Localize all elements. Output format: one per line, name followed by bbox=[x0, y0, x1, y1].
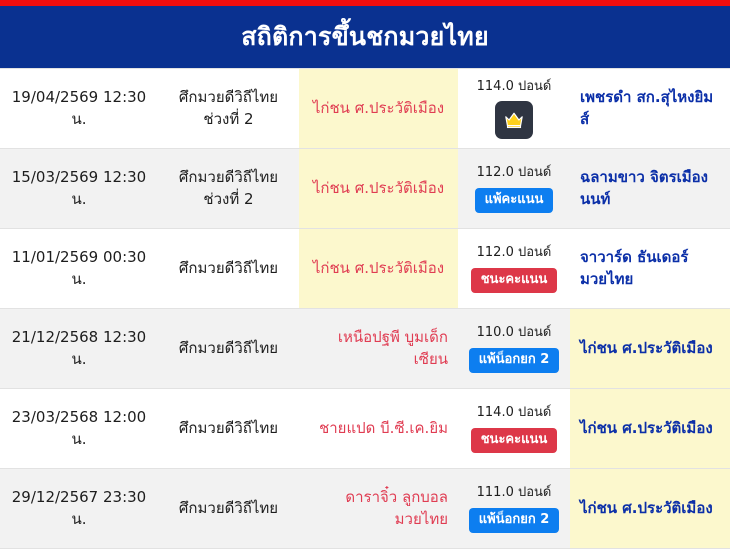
result-badge: ชนะคะแนน bbox=[471, 428, 558, 452]
blue-corner-fighter[interactable]: จาวาร์ด ธันเดอร์มวยไทย bbox=[570, 229, 730, 309]
weight-and-result: 112.0 ปอนด์แพ้คะแนน bbox=[458, 149, 570, 229]
event-name: ศึกมวยดีวิถีไทย bbox=[158, 389, 299, 469]
fight-history-body: 19/04/2569 12:30 น.ศึกมวยดีวิถีไทย ช่วงท… bbox=[0, 69, 730, 549]
fight-history-table: 19/04/2569 12:30 น.ศึกมวยดีวิถีไทย ช่วงท… bbox=[0, 68, 730, 549]
result-badge: แพ้คะแนน bbox=[475, 188, 554, 212]
event-name: ศึกมวยดีวิถีไทย bbox=[158, 309, 299, 389]
table-row[interactable]: 15/03/2569 12:30 น.ศึกมวยดีวิถีไทย ช่วงท… bbox=[0, 149, 730, 229]
event-name: ศึกมวยดีวิถีไทย bbox=[158, 469, 299, 549]
red-corner-fighter[interactable]: ดาราจิ๋ว ลูกบอลมวยไทย bbox=[299, 469, 458, 549]
crown-icon-svg bbox=[503, 110, 525, 130]
table-row[interactable]: 29/12/2567 23:30 น.ศึกมวยดีวิถีไทยดาราจิ… bbox=[0, 469, 730, 549]
page-title: สถิติการขึ้นชกมวยไทย bbox=[241, 23, 489, 51]
red-corner-fighter[interactable]: ชายแปด บี.ซี.เค.ยิม bbox=[299, 389, 458, 469]
fight-weight: 112.0 ปอนด์ bbox=[468, 164, 560, 183]
blue-corner-fighter[interactable]: ฉลามขาว จิตรเมืองนนท์ bbox=[570, 149, 730, 229]
weight-and-result: 111.0 ปอนด์แพ้น็อกยก 2 bbox=[458, 469, 570, 549]
fight-weight: 114.0 ปอนด์ bbox=[468, 404, 560, 423]
weight-and-result: 114.0 ปอนด์ชนะคะแนน bbox=[458, 389, 570, 469]
fight-date: 29/12/2567 23:30 น. bbox=[0, 469, 158, 549]
event-name: ศึกมวยดีวิถีไทย bbox=[158, 229, 299, 309]
weight-and-result: 110.0 ปอนด์แพ้น็อกยก 2 bbox=[458, 309, 570, 389]
event-name: ศึกมวยดีวิถีไทย ช่วงที่ 2 bbox=[158, 149, 299, 229]
blue-corner-fighter[interactable]: ไก่ชน ศ.ประวัติเมือง bbox=[570, 389, 730, 469]
blue-corner-fighter[interactable]: ไก่ชน ศ.ประวัติเมือง bbox=[570, 469, 730, 549]
event-name: ศึกมวยดีวิถีไทย ช่วงที่ 2 bbox=[158, 69, 299, 149]
table-row[interactable]: 23/03/2568 12:00 น.ศึกมวยดีวิถีไทยชายแปด… bbox=[0, 389, 730, 469]
weight-and-result: 114.0 ปอนด์ bbox=[458, 69, 570, 149]
red-corner-fighter[interactable]: เหนือปฐพี บูมเด็กเซียน bbox=[299, 309, 458, 389]
red-corner-fighter[interactable]: ไก่ชน ศ.ประวัติเมือง bbox=[299, 229, 458, 309]
weight-and-result: 112.0 ปอนด์ชนะคะแนน bbox=[458, 229, 570, 309]
table-row[interactable]: 21/12/2568 12:30 น.ศึกมวยดีวิถีไทยเหนือป… bbox=[0, 309, 730, 389]
fight-weight: 112.0 ปอนด์ bbox=[468, 244, 560, 263]
fight-weight: 111.0 ปอนด์ bbox=[468, 484, 560, 503]
fight-weight: 110.0 ปอนด์ bbox=[468, 324, 560, 343]
fight-date: 21/12/2568 12:30 น. bbox=[0, 309, 158, 389]
fight-date: 19/04/2569 12:30 น. bbox=[0, 69, 158, 149]
red-corner-fighter[interactable]: ไก่ชน ศ.ประวัติเมือง bbox=[299, 69, 458, 149]
result-badge: ชนะคะแนน bbox=[471, 268, 558, 292]
result-badge: แพ้น็อกยก 2 bbox=[469, 508, 560, 532]
blue-corner-fighter[interactable]: เพชรดำ สก.สุไหงยิมส์ bbox=[570, 69, 730, 149]
page-header: สถิติการขึ้นชกมวยไทย bbox=[0, 6, 730, 68]
fight-date: 11/01/2569 00:30 น. bbox=[0, 229, 158, 309]
fight-weight: 114.0 ปอนด์ bbox=[468, 78, 560, 97]
fight-date: 15/03/2569 12:30 น. bbox=[0, 149, 158, 229]
fight-stats-page: สถิติการขึ้นชกมวยไทย 19/04/2569 12:30 น.… bbox=[0, 0, 730, 551]
crown-icon bbox=[495, 101, 533, 139]
blue-corner-fighter[interactable]: ไก่ชน ศ.ประวัติเมือง bbox=[570, 309, 730, 389]
fight-date: 23/03/2568 12:00 น. bbox=[0, 389, 158, 469]
red-corner-fighter[interactable]: ไก่ชน ศ.ประวัติเมือง bbox=[299, 149, 458, 229]
table-row[interactable]: 11/01/2569 00:30 น.ศึกมวยดีวิถีไทยไก่ชน … bbox=[0, 229, 730, 309]
result-badge: แพ้น็อกยก 2 bbox=[469, 348, 560, 372]
table-row[interactable]: 19/04/2569 12:30 น.ศึกมวยดีวิถีไทย ช่วงท… bbox=[0, 69, 730, 149]
